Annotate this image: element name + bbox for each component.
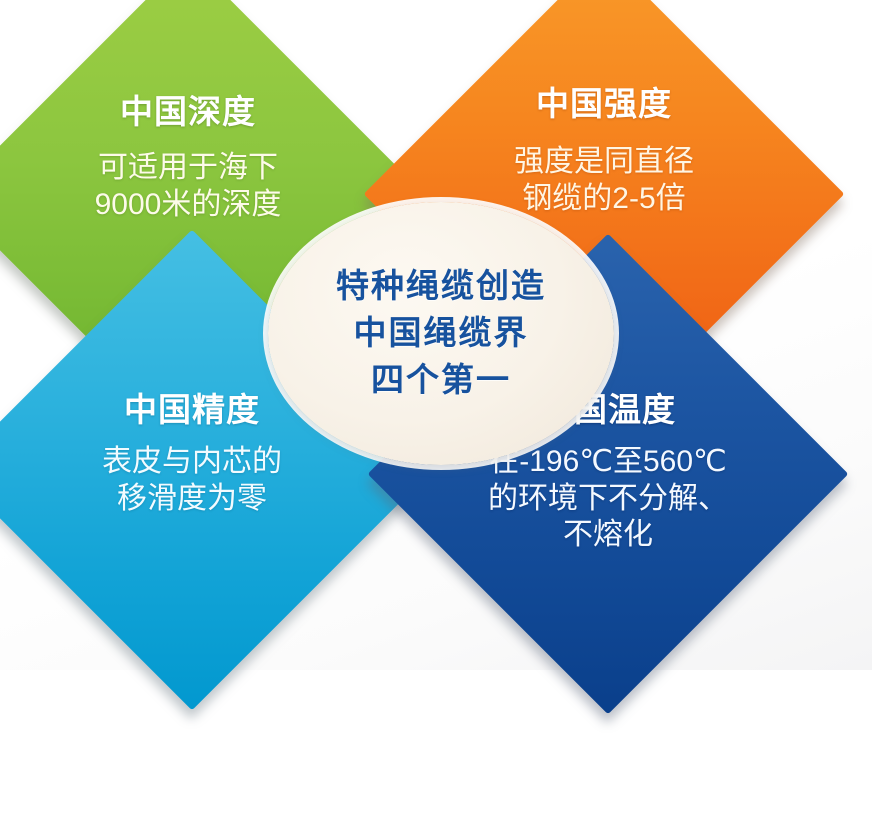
center-headline-line-3: 四个第一 [371,357,511,404]
center-headline-line-1: 特种绳缆创造 [336,263,546,310]
infographic-canvas: 中国深度 可适用于海下 9000米的深度 中国强度 强度是同直径 钢缆的2-5倍… [0,0,872,670]
center-headline-line-2: 中国绳缆界 [354,310,529,357]
center-headline-ellipse: 特种绳缆创造 中国绳缆界 四个第一 [268,202,614,465]
